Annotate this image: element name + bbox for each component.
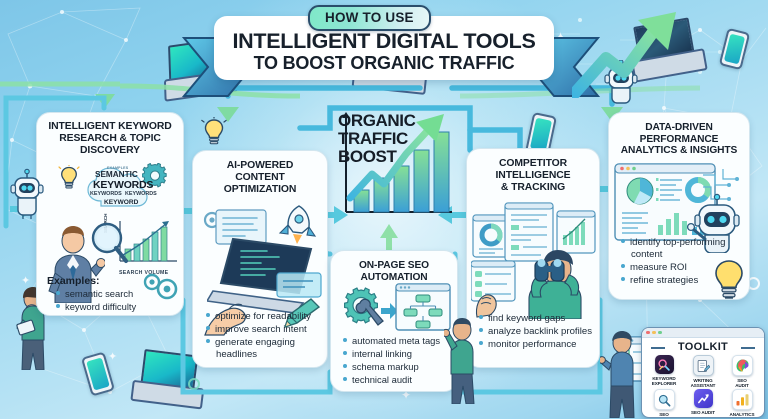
toolkit-panel[interactable]: TOOLKIT KEYWORD EXPLORER WRITING ASSISTA…: [641, 327, 765, 418]
panel-competitor-intelligence[interactable]: COMPETITOR INTELLIGENCE & TRACKING: [466, 148, 600, 368]
bullet-item: analyze backlink profiles: [489, 326, 598, 338]
panel-onpage-seo-title: ON-PAGE SEO AUTOMATION: [331, 260, 457, 283]
toolkit-item-label: SEO AUDIT: [735, 378, 749, 389]
panel-competitor-intelligence-title: COMPETITOR INTELLIGENCE & TRACKING: [467, 158, 599, 194]
label-line: ASSISTANT: [691, 383, 716, 388]
title-line: CONTENT: [193, 172, 327, 184]
sitemap-window-icon: [395, 283, 451, 331]
bullet-item: schema markup: [353, 361, 456, 372]
toolkit-item-label: KEYWORD EXPLORER: [652, 376, 676, 387]
bullet-item: keyword difficulty: [66, 301, 179, 312]
lightbulb-icon: [58, 165, 80, 193]
robot-mascot-left-illustration: [7, 168, 47, 220]
cloud-word-keywords-main: KEYWORDS: [93, 179, 153, 191]
toolkit-item-analytics[interactable]: ANALYTICS: [723, 389, 761, 417]
label-line: ANALYTICS: [730, 412, 755, 417]
ring-decor-4: [188, 378, 200, 390]
title-line: AUTOMATION: [331, 272, 457, 284]
hero-title-line-3: BOOST: [338, 148, 450, 166]
bullet-item: generate engaging headlines: [216, 337, 325, 360]
lightbulb-icon-decorative: [201, 117, 227, 149]
title-line: ANALYTICS & INSIGHTS: [609, 145, 749, 157]
person-clipboard-illustration: [600, 330, 640, 418]
bullet-item: identify top-performing content: [631, 237, 744, 260]
title-line: DISCOVERY: [44, 145, 176, 157]
toolkit-item-keyword-explorer[interactable]: KEYWORD EXPLORER: [645, 355, 683, 388]
lightbulb-icon-large: [712, 258, 746, 302]
cloud-word-semantic: SEMANTIC: [95, 170, 138, 179]
magnifier-icon: [654, 389, 675, 410]
toolkit-item-seo-audit[interactable]: SEO AUDIT: [723, 355, 761, 388]
bullet-item: find keyword gaps: [489, 313, 598, 325]
seo-audit-swirl-icon: [732, 355, 753, 376]
toolkit-item-seo[interactable]: SEO: [645, 389, 683, 417]
bullet-item: monitor performance: [489, 339, 598, 351]
how-to-use-badge: HOW TO USE: [308, 5, 431, 31]
label-line: SEO: [659, 412, 668, 417]
title-line: INTELLIGENT KEYWORD: [44, 121, 176, 133]
toolkit-item-seo-audit-2[interactable]: SEO AUDIT: [684, 389, 722, 417]
bullet-item: technical audit: [353, 374, 456, 385]
toolkit-item-label: WRITING ASSISTANT: [691, 378, 716, 389]
title-line: ON-PAGE SEO: [331, 260, 457, 272]
panel-keyword-research[interactable]: INTELLIGENT KEYWORD RESEARCH & TOPIC DIS…: [36, 112, 184, 316]
cloud-word-keywords-b: KEYWORDS: [125, 191, 157, 197]
label-line: KEYWORD: [652, 376, 675, 381]
bullet-item: semantic search: [66, 288, 179, 299]
toolkit-item-label: SEO: [659, 412, 668, 417]
cloud-word-keywords-a: KEYWORDS: [90, 191, 122, 197]
toolkit-title: TOOLKIT: [642, 341, 764, 353]
toolkit-item-label: ANALYTICS: [730, 412, 755, 417]
gear-wrench-icon: [338, 287, 386, 333]
hero-title-line-2: TRAFFIC: [338, 130, 450, 148]
label-line: SEO: [737, 378, 746, 383]
bar-chart-icon: [732, 389, 753, 410]
panel-keyword-research-title: INTELLIGENT KEYWORD RESEARCH & TOPIC DIS…: [37, 121, 183, 157]
panel-keyword-research-bullets: semantic search keyword difficulty: [55, 288, 179, 314]
title-line: DATA-DRIVEN: [609, 122, 749, 134]
label-line: SEO AUDIT: [691, 410, 715, 415]
panel-content-optimization-bullets: optimize for readability improve search …: [205, 311, 325, 362]
infographic-canvas: ✦ ✦ ✦ ✦ ✦: [0, 0, 768, 419]
title-line: RESEARCH & TOPIC: [44, 133, 176, 145]
label-line: EXPLORER: [652, 381, 676, 386]
trend-arrow-icon: [694, 389, 713, 408]
cloud-word-keyword: KEYWORD: [104, 199, 138, 206]
bullet-item: improve search intent: [216, 324, 325, 336]
title-line-1: INTELLIGENT DIGITAL TOOLS: [232, 31, 535, 53]
writing-assistant-icon: [693, 355, 714, 376]
label-line: AUDIT: [735, 383, 749, 388]
panel-analytics-insights-title: DATA-DRIVEN PERFORMANCE ANALYTICS & INSI…: [609, 122, 749, 157]
title-line: AI-POWERED: [193, 160, 327, 172]
examples-label: Examples:: [47, 275, 100, 287]
growth-arrow-topright: [572, 8, 678, 98]
panel-content-optimization[interactable]: AI-POWERED CONTENT OPTIMIZATION: [192, 150, 328, 368]
title-line: COMPETITOR: [467, 158, 599, 170]
bullet-item: optimize for readability: [216, 311, 325, 323]
hero-title: ORGANIC TRAFFIC BOOST: [338, 112, 450, 166]
person-binoculars-illustration: [511, 247, 599, 319]
panel-onpage-seo-bullets: automated meta tags internal linking sch…: [342, 335, 456, 387]
title-line: PERFORMANCE: [609, 134, 749, 146]
panel-content-optimization-title: AI-POWERED CONTENT OPTIMIZATION: [193, 160, 327, 196]
bullet-item: automated meta tags: [353, 335, 456, 346]
window-dot-red: [646, 331, 650, 335]
toolkit-item-label: SEO AUDIT: [691, 410, 715, 415]
toolkit-item-writing-assistant[interactable]: WRITING ASSISTANT: [684, 355, 722, 388]
toolkit-grid: KEYWORD EXPLORER WRITING ASSISTANT: [642, 353, 764, 417]
sparkle-decor-3: ✦: [108, 352, 117, 363]
hero-title-line-1: ORGANIC: [338, 112, 450, 130]
title-line-2: TO BOOST ORGANIC TRAFFIC: [254, 54, 515, 73]
panel-competitor-intelligence-bullets: find keyword gaps analyze backlink profi…: [478, 313, 598, 353]
window-dot-green: [658, 331, 662, 335]
bullet-item: internal linking: [353, 348, 456, 359]
label-line: WRITING: [693, 378, 712, 383]
window-dot-yellow: [652, 331, 656, 335]
title-line: & TRACKING: [467, 182, 599, 194]
person-pointing-illustration: [444, 318, 480, 404]
panel-onpage-seo[interactable]: ON-PAGE SEO AUTOMATION: [330, 250, 458, 392]
keyword-explorer-icon: [655, 355, 674, 374]
title-line: OPTIMIZATION: [193, 184, 327, 196]
toolkit-titlebar: [642, 328, 764, 338]
title-line: INTELLIGENCE: [467, 170, 599, 182]
